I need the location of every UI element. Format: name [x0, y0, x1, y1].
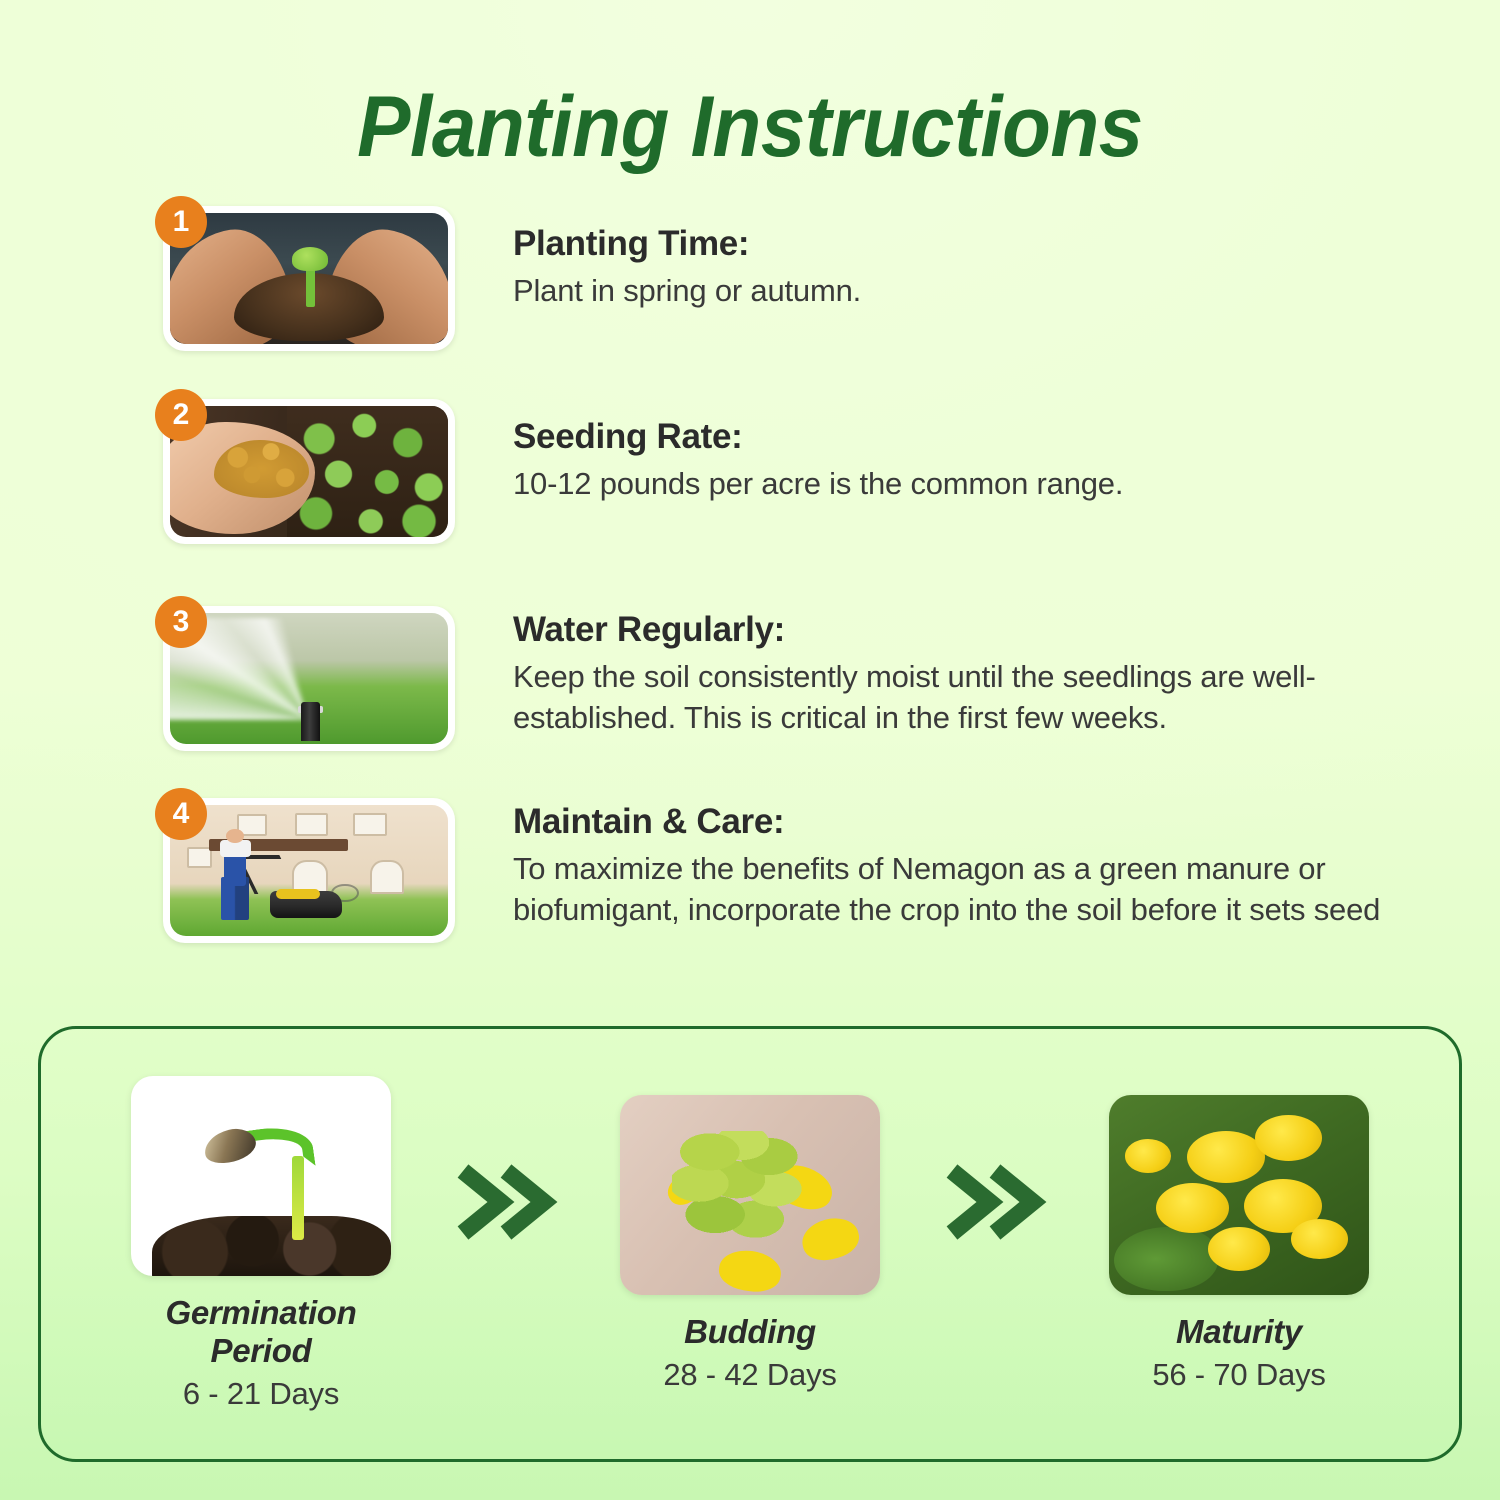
step-heading-2: Seeding Rate:	[513, 417, 1123, 457]
yellow-canola-flowers-photo	[1109, 1095, 1369, 1295]
step-body-1: Plant in spring or autumn.	[513, 271, 861, 312]
step-thumbnail-frame-2	[163, 399, 455, 544]
step-thumbnail-frame-1	[163, 206, 455, 351]
step-thumbnail-3: 3	[155, 596, 455, 751]
growth-stages-row: Germination Period 6 - 21 Days Budding 2…	[41, 1029, 1459, 1459]
step-number-badge-1: 1	[155, 196, 207, 248]
growth-stage-maturity: Maturity 56 - 70 Days	[1089, 1095, 1389, 1393]
step-text-3: Water Regularly: Keep the soil consisten…	[455, 596, 1405, 738]
step-thumbnail-frame-3	[163, 606, 455, 751]
stage-name-maturity: Maturity	[1089, 1313, 1389, 1351]
step-body-3: Keep the soil consistently moist until t…	[513, 657, 1405, 738]
step-thumbnail-frame-4	[163, 798, 455, 943]
step-number-badge-4: 4	[155, 788, 207, 840]
hands-holding-soil-with-sprout-photo	[170, 213, 448, 344]
person-mowing-lawn-photo	[170, 805, 448, 936]
step-item-2: 2 Seeding Rate: 10-12 pounds per acre is…	[155, 389, 1455, 544]
step-heading-1: Planting Time:	[513, 224, 861, 264]
step-body-2: 10-12 pounds per acre is the common rang…	[513, 464, 1123, 505]
infographic-page: Planting Instructions 1 Planting Time: P…	[0, 0, 1500, 1500]
step-item-1: 1 Planting Time: Plant in spring or autu…	[155, 196, 1455, 351]
step-heading-3: Water Regularly:	[513, 610, 1405, 650]
stage-days-germination: 6 - 21 Days	[111, 1376, 411, 1412]
stage-name-germination: Germination Period	[111, 1294, 411, 1370]
step-text-2: Seeding Rate: 10-12 pounds per acre is t…	[455, 389, 1123, 505]
step-text-4: Maintain & Care: To maximize the benefit…	[455, 788, 1405, 930]
growth-stage-germination: Germination Period 6 - 21 Days	[111, 1076, 411, 1412]
germinating-seedling-photo	[131, 1076, 391, 1276]
lawn-sprinkler-watering-photo	[170, 613, 448, 744]
step-item-3: 3 Water Regularly: Keep the soil consist…	[155, 596, 1455, 751]
stage-days-maturity: 56 - 70 Days	[1089, 1357, 1389, 1393]
stage-days-budding: 28 - 42 Days	[600, 1357, 900, 1393]
step-thumbnail-4: 4	[155, 788, 455, 943]
step-body-4: To maximize the benefits of Nemagon as a…	[513, 849, 1405, 930]
hand-with-seeds-and-seedlings-photo	[170, 406, 448, 537]
step-heading-4: Maintain & Care:	[513, 802, 1405, 842]
page-title: Planting Instructions	[53, 78, 1448, 177]
step-thumbnail-1: 1	[155, 196, 455, 351]
step-text-1: Planting Time: Plant in spring or autumn…	[455, 196, 861, 312]
step-thumbnail-2: 2	[155, 389, 455, 544]
step-number-badge-2: 2	[155, 389, 207, 441]
step-number-badge-3: 3	[155, 596, 207, 648]
growth-stage-budding: Budding 28 - 42 Days	[600, 1095, 900, 1393]
double-chevron-right-icon	[451, 1157, 561, 1247]
stage-name-budding: Budding	[600, 1313, 900, 1351]
step-item-4: 4 Maintain & Care: To maximize the bene	[155, 788, 1455, 943]
growth-timeline-panel: Germination Period 6 - 21 Days Budding 2…	[38, 1026, 1462, 1462]
flower-buds-photo	[620, 1095, 880, 1295]
double-chevron-right-icon-2	[940, 1157, 1050, 1247]
